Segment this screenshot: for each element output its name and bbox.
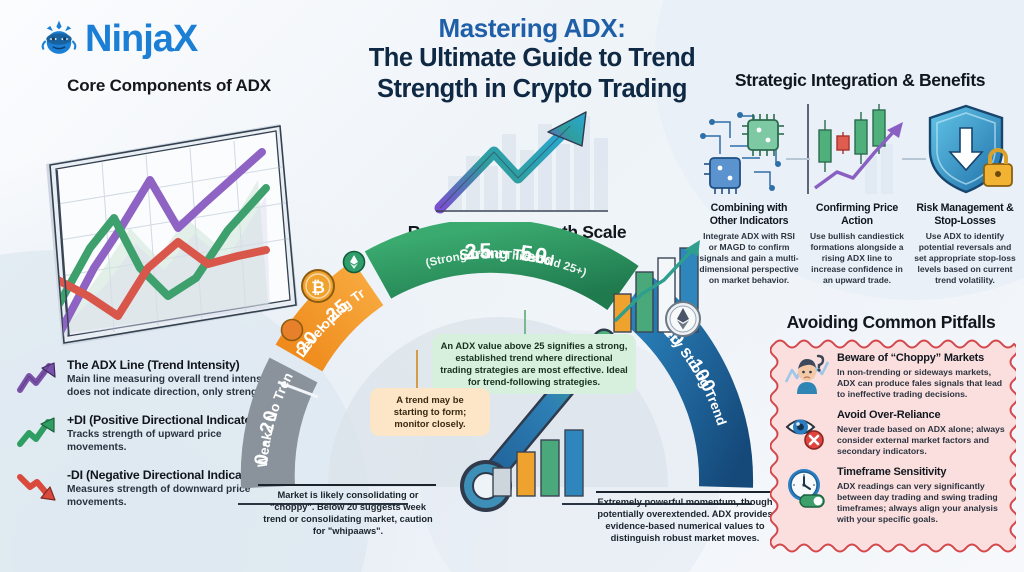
strategic-column-desc: Integrate ADX with RSI or MAGD to confir… [698,231,800,286]
pitfall-item: Avoid Over-Reliance Never trade based on… [784,409,1006,457]
strong-trend-callout: An ADX value above 25 signifies a strong… [432,334,636,394]
pitfalls-section-heading: Avoiding Common Pitfalls [760,312,1022,333]
strategic-column-title: Risk Management & Stop-Losses [914,202,1016,227]
pitfall-title: Avoid Over-Reliance [837,409,1006,422]
pitfall-item: Timeframe Sensitivity ADX readings can v… [784,466,1006,525]
connector-line [902,158,926,160]
brand-logo: NinjaX [38,18,197,60]
strategic-column-desc: Use ADX to identify potential reversals … [914,231,1016,286]
developing-trend-callout: A trend may be starting to form; monitor… [370,388,490,436]
pitfall-title: Beware of “Choppy” Markets [837,352,1006,365]
page-title: Mastering ADX: The Ultimate Guide to Tre… [352,14,712,104]
strong-trend-callout-text: An ADX value above 25 signifies a strong… [440,340,628,387]
red-down-arrow-icon [16,469,60,505]
strategic-column: Risk Management & Stop-Losses Use ADX to… [914,202,1016,286]
ninja-mask-icon [38,18,80,60]
confused-person-icon [784,352,830,394]
strategic-column-title: Combining with Other Indicators [698,202,800,227]
strategic-column: Combining with Other Indicators Integrat… [698,202,800,286]
strategic-column-title: Confirming Price Action [806,202,908,227]
strategic-section-heading: Strategic Integration & Benefits [700,70,1020,91]
weak-trend-note: Market is likely consolidating or "chopp… [258,489,438,537]
eye-warning-icon [784,409,830,451]
connector-line [786,158,810,160]
mini-bar-chart-icon [487,428,607,500]
pitfalls-section: Beware of “Choppy” Markets In non-trendi… [770,336,1016,562]
green-up-arrow-icon [16,414,60,450]
svg-text:₿: ₿ [311,278,325,298]
ethereum-coin-icon [664,300,702,338]
pitfall-item: Beware of “Choppy” Markets In non-trendi… [784,352,1006,400]
strategic-section: Combining with Other Indicators Integrat… [690,100,1024,286]
candlestick-chart-icon [805,102,913,196]
circuit-chip-icon [696,102,796,196]
developing-trend-callout-text: A trend may be starting to form; monitor… [394,394,466,429]
title-line-2: The Ultimate Guide to Trend [352,44,712,74]
strategic-column: Confirming Price Action Use bullish cand… [806,202,908,286]
rising-gradient-arrow-icon [432,104,642,226]
note-divider [596,491,774,493]
very-strong-trend-note: Extremely powerful momentum, though pote… [592,496,778,544]
ethereum-coin-icon [342,250,366,274]
infographic-root: NinjaX Core Components of ADX [0,0,1024,572]
callout-stem [524,310,526,336]
pitfall-desc: In non-trending or sideways markets, ADX… [837,367,1006,400]
bitcoin-coin-icon: ₿ [300,268,336,304]
purple-up-arrow-icon [16,359,60,395]
left-section-title: Core Components of ADX [44,76,294,96]
note-divider [258,484,436,486]
pitfall-title: Timeframe Sensitivity [837,466,1006,479]
strategic-column-desc: Use bullish candiestick formations along… [806,231,908,286]
title-line-3: Strength in Crypto Trading [352,75,712,105]
callout-stem [416,350,418,390]
pitfall-desc: ADX readings can very significantly betw… [837,481,1006,526]
brand-name: NinjaX [85,20,197,58]
pitfall-desc: Never trade based on ADX alone; always c… [837,424,1006,457]
clock-toggle-icon [784,466,830,508]
bitcoin-coin-icon [280,318,304,342]
title-line-1: Mastering ADX: [352,14,712,43]
shield-lock-icon [922,102,1018,196]
